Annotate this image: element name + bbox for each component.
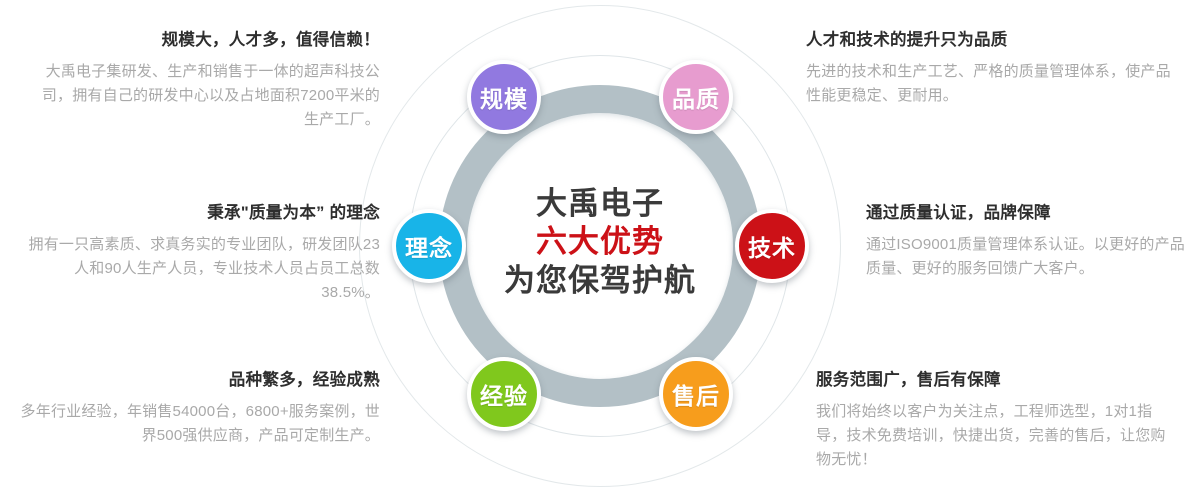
text-block-experience-desc: 多年行业经验，年销售54000台，6800+服务案例，世界500强供应商，产品可…: [20, 400, 380, 449]
text-block-experience-title: 品种繁多，经验成熟: [20, 370, 380, 391]
text-block-certification: 通过质量认证，品牌保障 通过ISO9001质量管理体系认证。以更好的产品质量、更…: [866, 203, 1186, 281]
text-block-service: 服务范围广，售后有保障 我们将始终以客户为关注点，工程师选型，1对1指导，技术免…: [816, 370, 1176, 473]
text-block-philosophy-title: 秉承"质量为本” 的理念: [20, 203, 380, 224]
center-headline: 大禹电子 六大优势 为您保驾护航: [455, 185, 745, 300]
text-block-quality: 人才和技术的提升只为品质 先进的技术和生产工艺、严格的质量管理体系，使产品性能更…: [806, 30, 1176, 108]
text-block-service-desc: 我们将始终以客户为关注点，工程师选型，1对1指导，技术免费培训，快捷出货，完善的…: [816, 400, 1176, 473]
headline-line-1: 大禹电子: [455, 185, 745, 223]
text-block-certification-title: 通过质量认证，品牌保障: [866, 203, 1186, 224]
bubble-experience-label: 经验: [480, 377, 528, 411]
bubble-scale[interactable]: 规模: [467, 60, 541, 134]
text-block-experience: 品种繁多，经验成熟 多年行业经验，年销售54000台，6800+服务案例，世界5…: [20, 370, 380, 448]
bubble-after-sales[interactable]: 售后: [659, 357, 733, 431]
bubble-philosophy[interactable]: 理念: [392, 209, 466, 283]
infographic-canvas: 大禹电子 六大优势 为您保驾护航 规模 品质 理念 技术 经验 售后 规模大，人…: [0, 0, 1200, 492]
bubble-scale-label: 规模: [480, 80, 528, 114]
text-block-philosophy: 秉承"质量为本” 的理念 拥有一只高素质、求真务实的专业团队，研发团队23人和9…: [20, 203, 380, 306]
text-block-quality-desc: 先进的技术和生产工艺、严格的质量管理体系，使产品性能更稳定、更耐用。: [806, 60, 1176, 109]
headline-line-3: 为您保驾护航: [455, 262, 745, 300]
text-block-quality-title: 人才和技术的提升只为品质: [806, 30, 1176, 51]
text-block-scale-title: 规模大，人才多，值得信赖！: [30, 30, 380, 51]
text-block-scale-desc: 大禹电子集研发、生产和销售于一体的超声科技公司，拥有自己的研发中心以及占地面积7…: [30, 60, 380, 133]
bubble-quality-label: 品质: [672, 80, 720, 114]
bubble-technology[interactable]: 技术: [735, 209, 809, 283]
text-block-philosophy-desc: 拥有一只高素质、求真务实的专业团队，研发团队23人和90人生产人员，专业技术人员…: [20, 233, 380, 306]
bubble-after-sales-label: 售后: [672, 377, 720, 411]
bubble-quality[interactable]: 品质: [659, 60, 733, 134]
headline-line-2: 六大优势: [455, 223, 745, 261]
bubble-philosophy-label: 理念: [405, 229, 453, 263]
text-block-service-title: 服务范围广，售后有保障: [816, 370, 1176, 391]
text-block-certification-desc: 通过ISO9001质量管理体系认证。以更好的产品质量、更好的服务回馈广大客户。: [866, 233, 1186, 282]
bubble-experience[interactable]: 经验: [467, 357, 541, 431]
bubble-technology-label: 技术: [748, 229, 796, 263]
text-block-scale: 规模大，人才多，值得信赖！ 大禹电子集研发、生产和销售于一体的超声科技公司，拥有…: [30, 30, 380, 133]
